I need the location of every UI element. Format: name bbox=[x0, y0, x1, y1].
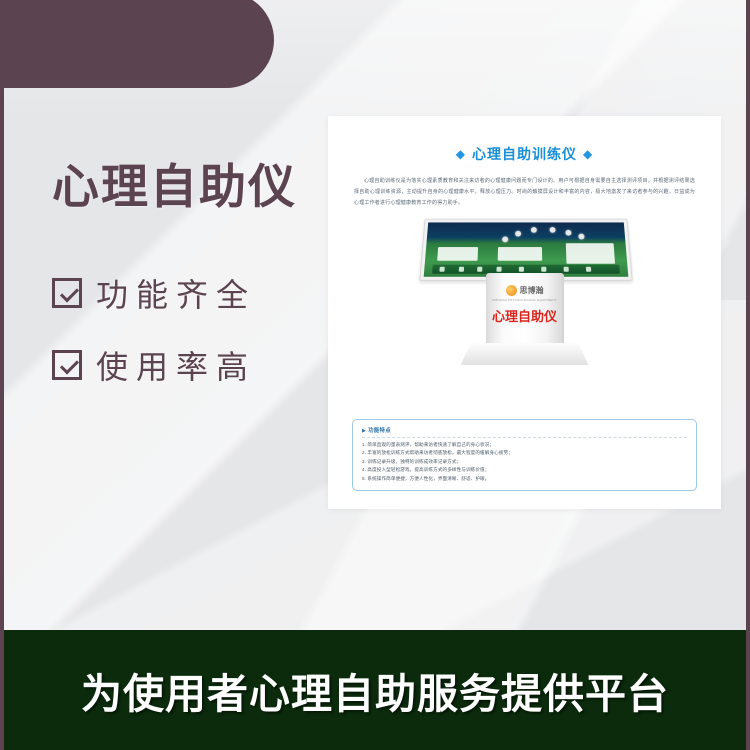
features-box-heading: ▶功能特点 bbox=[362, 426, 687, 434]
diamond-left-icon: ◆ bbox=[456, 147, 466, 161]
feature-highlight-label: 使用率高 bbox=[96, 342, 256, 388]
triangle-marker-icon: ▶ bbox=[362, 428, 366, 434]
feature-highlight-label: 功能齐全 bbox=[96, 270, 256, 316]
features-box-item: 5. 系统操作简单便捷，方便人性化，界面清晰、舒适、护眼。 bbox=[362, 475, 687, 483]
feature-highlight-item: 功能齐全 bbox=[52, 270, 352, 316]
checkbox-checked-icon bbox=[52, 350, 82, 380]
kiosk-illustration: 思博瀚 SIBOHAN PSYCHOLOGICAL EQUIPMENT 心理自助… bbox=[420, 217, 630, 377]
feature-highlight-item: 使用率高 bbox=[52, 342, 352, 388]
checkbox-checked-icon bbox=[52, 278, 82, 308]
sun-logo-icon bbox=[506, 285, 517, 296]
kiosk-screen-frame bbox=[419, 219, 633, 281]
kiosk-logo: 思博瀚 bbox=[506, 285, 544, 296]
features-box-item: 1. 简单直观的量表测评，帮助来访者快速了解自己的身心状况； bbox=[362, 441, 687, 449]
feature-highlight-list: 功能齐全 使用率高 bbox=[52, 270, 352, 388]
page-title: 心理自助仪 bbox=[52, 160, 352, 214]
features-box-item: 2. 丰富的放松训练方式帮助来访者彻底放松，最大程度的缓解身心疲劳； bbox=[362, 449, 687, 457]
features-box-item: 4. 高度投入型轻松游戏，提高训练方式的多样性与训练价值； bbox=[362, 466, 687, 474]
features-box: ▶功能特点 1. 简单直观的量表测评，帮助来访者快速了解自己的身心状况； 2. … bbox=[352, 419, 697, 491]
poster-root: 心理自助仪 功能齐全 使用率高 ◆心理自助训练仪◆ 心理自助训练仪是为落实心理素… bbox=[0, 0, 750, 750]
screen-icon-fan bbox=[498, 226, 590, 244]
card-title-text: 心理自助训练仪 bbox=[472, 146, 577, 162]
kiosk-screen-content bbox=[423, 222, 628, 276]
features-box-heading-text: 功能特点 bbox=[368, 428, 391, 434]
bottom-banner: 为使用者心理自助服务提供平台 bbox=[0, 630, 750, 750]
purple-corner-tab bbox=[0, 0, 274, 88]
features-box-divider bbox=[362, 437, 687, 438]
product-card: ◆心理自助训练仪◆ 心理自助训练仪是为落实心理素质教育和关注来访者的心理健康问题… bbox=[328, 116, 721, 509]
card-description: 心理自助训练仪是为落实心理素质教育和关注来访者的心理健康问题而专门设计的。用户可… bbox=[354, 176, 695, 209]
features-box-item: 3. 训练记录升级，独特的训练成效率记录方式； bbox=[362, 458, 687, 466]
card-title: ◆心理自助训练仪◆ bbox=[328, 144, 721, 164]
kiosk-logo-subtitle: SIBOHAN PSYCHOLOGICAL EQUIPMENT bbox=[492, 298, 557, 302]
diamond-right-icon: ◆ bbox=[583, 147, 593, 161]
bottom-banner-text: 为使用者心理自助服务提供平台 bbox=[81, 660, 669, 720]
kiosk-logo-text: 思博瀚 bbox=[520, 285, 544, 296]
kiosk-base bbox=[461, 343, 589, 365]
kiosk-brand-text: 心理自助仪 bbox=[492, 306, 557, 325]
kiosk-pedestal: 思博瀚 SIBOHAN PSYCHOLOGICAL EQUIPMENT 心理自助… bbox=[486, 273, 564, 345]
left-text-column: 心理自助仪 功能齐全 使用率高 bbox=[52, 160, 352, 414]
